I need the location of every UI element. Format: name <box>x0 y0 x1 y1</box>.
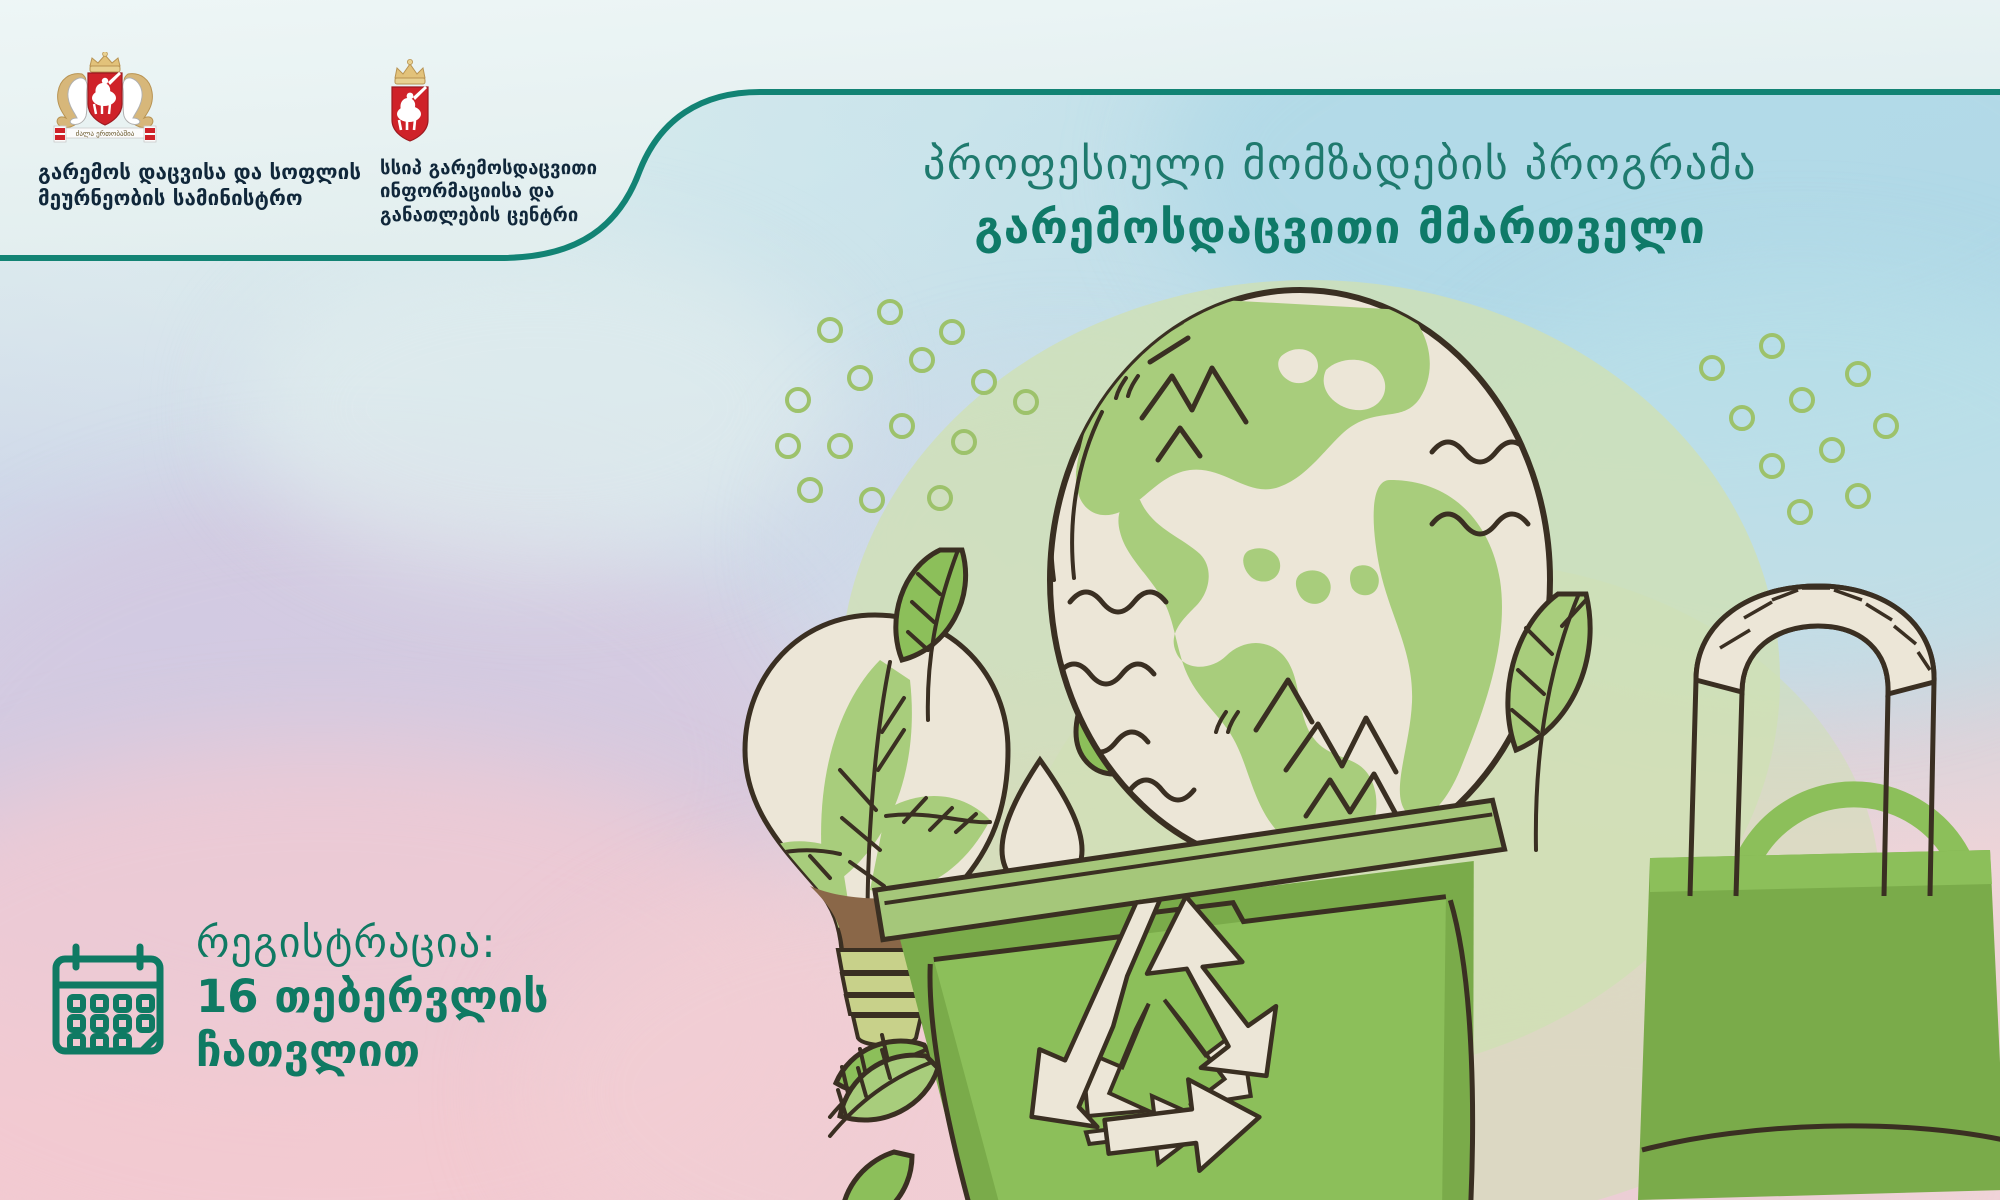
center-logo-text: სსიპ გარემოსდაცვითი ინფორმაციისა და განა… <box>380 157 650 227</box>
svg-text:ძალა ერთობაშია: ძალა ერთობაშია <box>76 129 135 138</box>
center-logo-line2: ინფორმაციისა და <box>380 180 650 203</box>
bag-body <box>1638 850 2000 1200</box>
program-title: პროფესიული მომზადების პროგრამა <box>690 140 1990 191</box>
registration-text: რეგისტრაცია: 16 თებერვლის ჩათვლით <box>196 920 549 1078</box>
georgia-shield-crest-icon <box>380 58 440 144</box>
center-logo-line1: სსიპ გარემოსდაცვითი <box>380 157 650 180</box>
registration-date-line1: 16 თებერვლის <box>196 970 549 1024</box>
calendar-icon <box>46 937 170 1061</box>
eco-illustration <box>690 250 2000 1200</box>
registration-date: 16 თებერვლის ჩათვლით <box>196 970 549 1078</box>
registration-date-line2: ჩათვლით <box>196 1024 549 1078</box>
leaf-sprout-icon <box>842 1152 912 1200</box>
registration-label: რეგისტრაცია: <box>196 920 549 966</box>
ministry-logo: ძალა ერთობაშია გარემოს დაცვისა და სოფლის… <box>38 52 368 212</box>
center-logo: სსიპ გარემოსდაცვითი ინფორმაციისა და განა… <box>380 58 650 227</box>
logo-group: ძალა ერთობაშია გარემოს დაცვისა და სოფლის… <box>0 0 700 270</box>
ministry-logo-text: გარემოს დაცვისა და სოფლის მეურნეობის სამ… <box>38 160 368 212</box>
program-subtitle: გარემოსდაცვითი მმართველი <box>690 201 1990 254</box>
center-logo-line3: განათლების ცენტრი <box>380 204 650 227</box>
program-title-block: პროფესიული მომზადების პროგრამა გარემოსდა… <box>690 140 1990 253</box>
ministry-logo-line2: მეურნეობის სამინისტრო <box>38 186 368 212</box>
georgia-coat-of-arms-full-icon: ძალა ერთობაშია <box>46 52 164 144</box>
ministry-logo-line1: გარემოს დაცვისა და სოფლის <box>38 160 368 186</box>
globe-earth-icon <box>1050 290 1550 870</box>
registration-block: რეგისტრაცია: 16 თებერვლის ჩათვლით <box>46 920 549 1078</box>
